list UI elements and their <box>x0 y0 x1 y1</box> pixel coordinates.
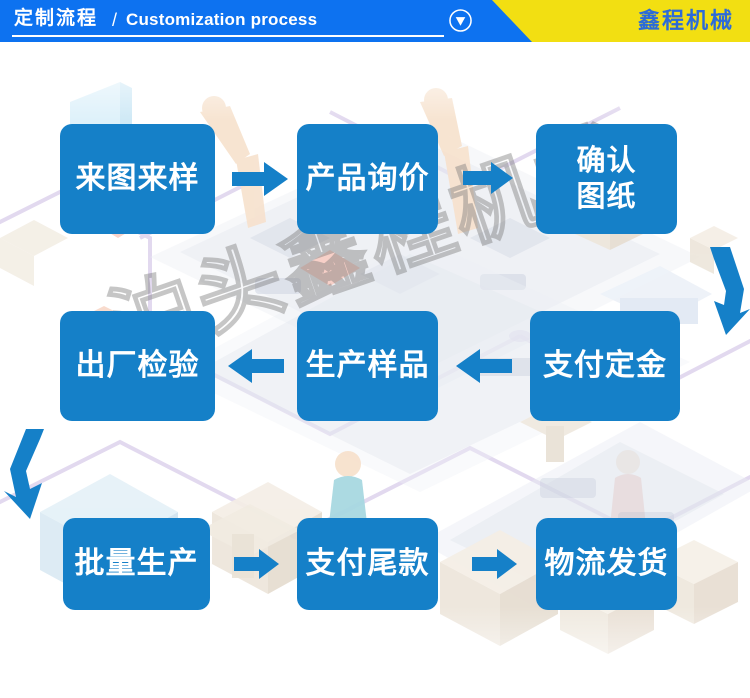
arrow-left-1-icon <box>228 349 284 383</box>
page-header: 定制流程 / Customization process 鑫程机械 <box>0 0 750 42</box>
flow-step-7-label: 批量生产 <box>75 545 199 583</box>
flow-step-6-label: 支付定金 <box>543 347 667 385</box>
arrow-left-2-icon <box>456 349 512 383</box>
page-title-cn: 定制流程 <box>14 7 98 31</box>
flow-step-2-label: 产品询价 <box>306 160 430 198</box>
arrow-right-4-icon <box>472 549 517 579</box>
flow-step-6[interactable]: 支付定金 <box>530 311 680 421</box>
arrow-right-2-icon <box>463 162 513 194</box>
arrow-right-3-icon <box>234 549 279 579</box>
arrow-right-1-icon <box>232 162 288 196</box>
customization-process-infographic: 泊头鑫程机械 定制流程 / Customization process 鑫程机械… <box>0 0 750 698</box>
chevron-down-circle-icon[interactable] <box>449 9 472 32</box>
title-separator: / <box>112 8 117 32</box>
flow-step-1-label: 来图来样 <box>76 160 200 198</box>
brand-name: 鑫程机械 <box>638 6 734 36</box>
connector-right-down-icon <box>700 243 750 338</box>
flow-step-5-label: 生产样品 <box>306 347 430 385</box>
flow-step-8-label: 支付尾款 <box>306 545 430 583</box>
flow-step-8[interactable]: 支付尾款 <box>297 518 438 610</box>
flow-step-5[interactable]: 生产样品 <box>297 311 438 421</box>
page-title-en: Customization process <box>126 9 317 31</box>
flow-step-4[interactable]: 出厂检验 <box>60 311 215 421</box>
flow-step-2[interactable]: 产品询价 <box>297 124 438 234</box>
flow-step-4-label: 出厂检验 <box>76 347 200 385</box>
flow-step-3-label: 确认 图纸 <box>576 143 636 215</box>
flow-step-9-label: 物流发货 <box>545 545 669 583</box>
flow-step-1[interactable]: 来图来样 <box>60 124 215 234</box>
flow-step-7[interactable]: 批量生产 <box>63 518 210 610</box>
flow-step-3[interactable]: 确认 图纸 <box>536 124 677 234</box>
connector-left-down-icon <box>0 425 64 523</box>
flow-step-9[interactable]: 物流发货 <box>536 518 677 610</box>
header-underline <box>12 35 444 37</box>
